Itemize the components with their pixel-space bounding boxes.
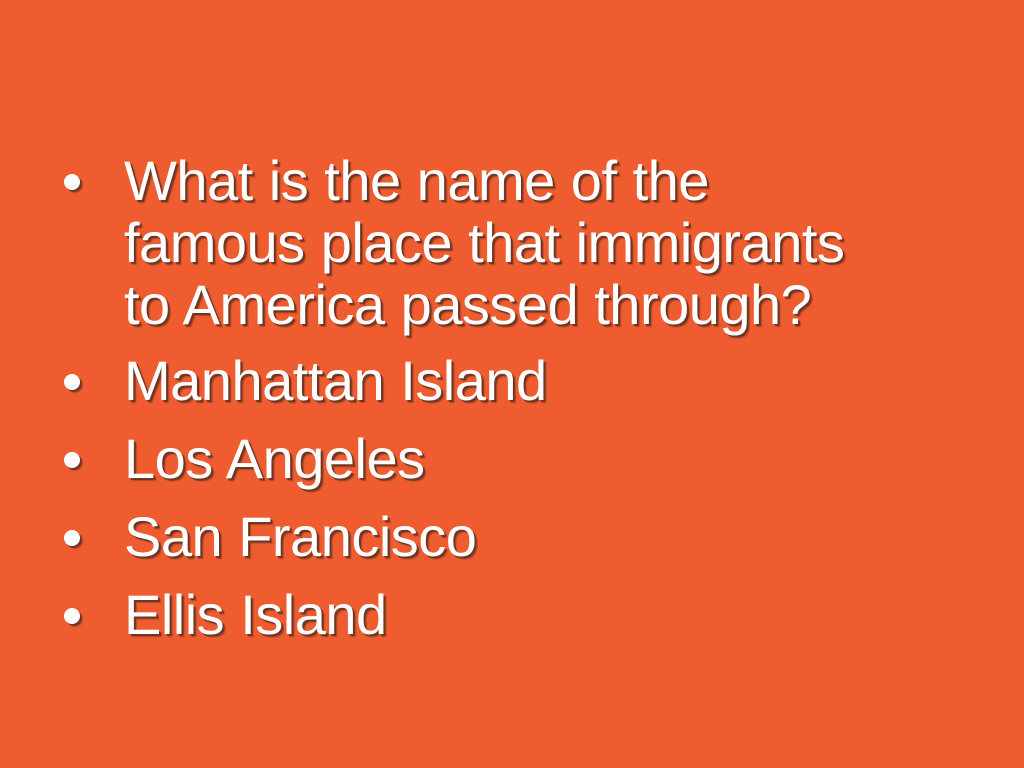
- bullet-text-choice-los-angeles: Los Angeles: [124, 428, 906, 490]
- bullet-point-icon: [64, 608, 80, 624]
- bullet-text-choice-san-francisco: San Francisco: [124, 506, 906, 568]
- list-item[interactable]: What is the name of the famous place tha…: [0, 150, 1024, 336]
- list-item[interactable]: Ellis Island: [0, 584, 1024, 646]
- bullet-point-icon: [64, 452, 80, 468]
- bullet-point-icon: [64, 374, 80, 390]
- bullet-point-icon: [64, 530, 80, 546]
- list-item[interactable]: Manhattan Island: [0, 350, 1024, 412]
- list-item[interactable]: Los Angeles: [0, 428, 1024, 490]
- list-item[interactable]: San Francisco: [0, 506, 1024, 568]
- bullet-list: What is the name of the famous place tha…: [0, 150, 1024, 662]
- bullet-text-question: What is the name of the famous place tha…: [124, 150, 894, 336]
- slide-canvas: What is the name of the famous place tha…: [0, 0, 1024, 768]
- bullet-text-choice-manhattan-island: Manhattan Island: [124, 350, 906, 412]
- bullet-point-icon: [64, 174, 80, 190]
- bullet-text-choice-ellis-island: Ellis Island: [124, 584, 906, 646]
